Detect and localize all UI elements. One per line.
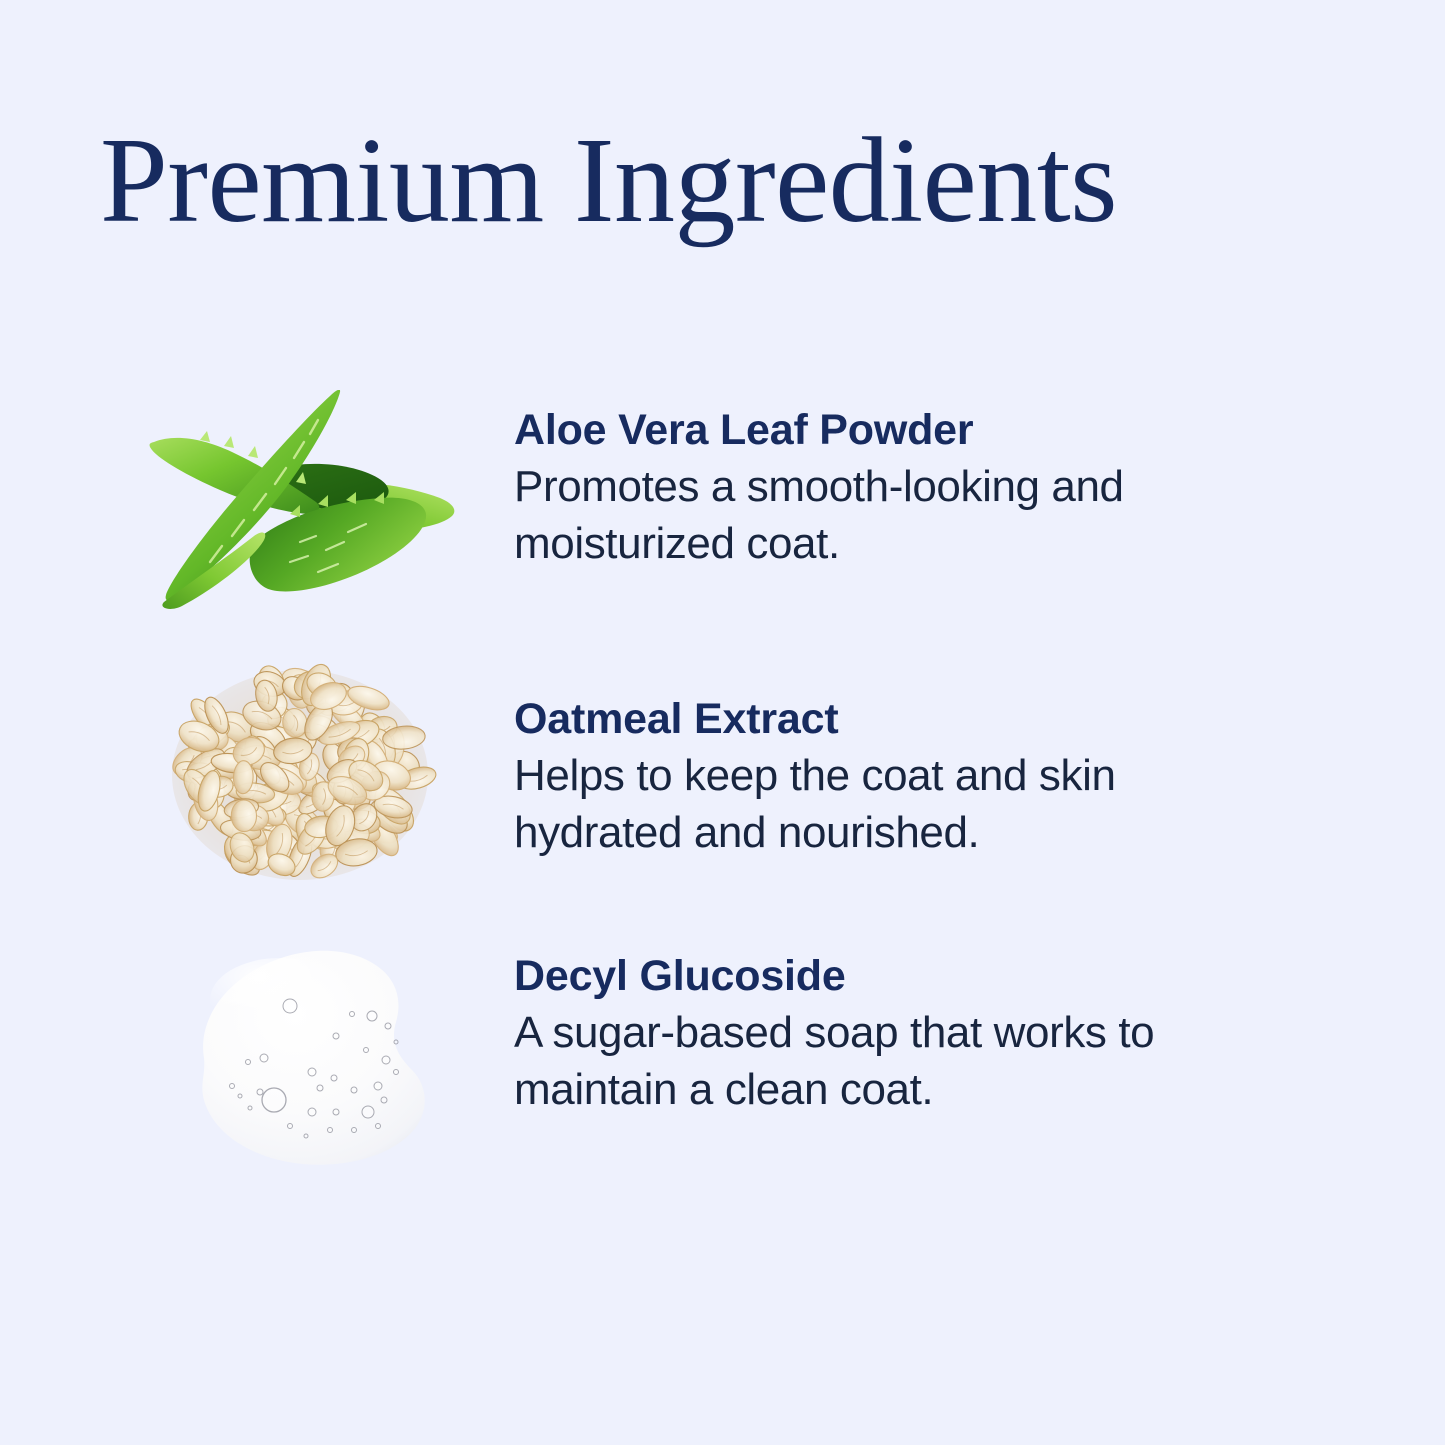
aloe-vera-leaves-icon — [140, 390, 460, 640]
ingredient-description: A sugar-based soap that works to maintai… — [514, 1004, 1214, 1118]
ingredient-description: Helps to keep the coat and skin hydrated… — [514, 747, 1214, 861]
gel-sheen — [210, 958, 350, 1042]
ingredient-name: Oatmeal Extract — [514, 693, 1304, 745]
page-title: Premium Ingredients — [100, 120, 1350, 242]
oatmeal-flakes-icon — [140, 645, 460, 895]
oat-flake-group — [167, 660, 438, 882]
ingredient-name: Aloe Vera Leaf Powder — [514, 404, 1304, 456]
ingredient-row: Aloe Vera Leaf Powder Promotes a smooth-… — [0, 390, 1445, 640]
ingredient-text-block: Aloe Vera Leaf Powder Promotes a smooth-… — [514, 404, 1304, 572]
ingredient-text-block: Oatmeal Extract Helps to keep the coat a… — [514, 693, 1304, 861]
gel-droplet-icon — [140, 930, 460, 1180]
ingredient-name: Decyl Glucoside — [514, 950, 1304, 1002]
ingredient-description: Promotes a smooth-looking and moisturize… — [514, 458, 1214, 572]
ingredient-row: Decyl Glucoside A sugar-based soap that … — [0, 930, 1445, 1180]
ingredient-text-block: Decyl Glucoside A sugar-based soap that … — [514, 950, 1304, 1118]
premium-ingredients-panel: Premium Ingredients — [0, 0, 1445, 1445]
ingredient-row: Oatmeal Extract Helps to keep the coat a… — [0, 645, 1445, 895]
